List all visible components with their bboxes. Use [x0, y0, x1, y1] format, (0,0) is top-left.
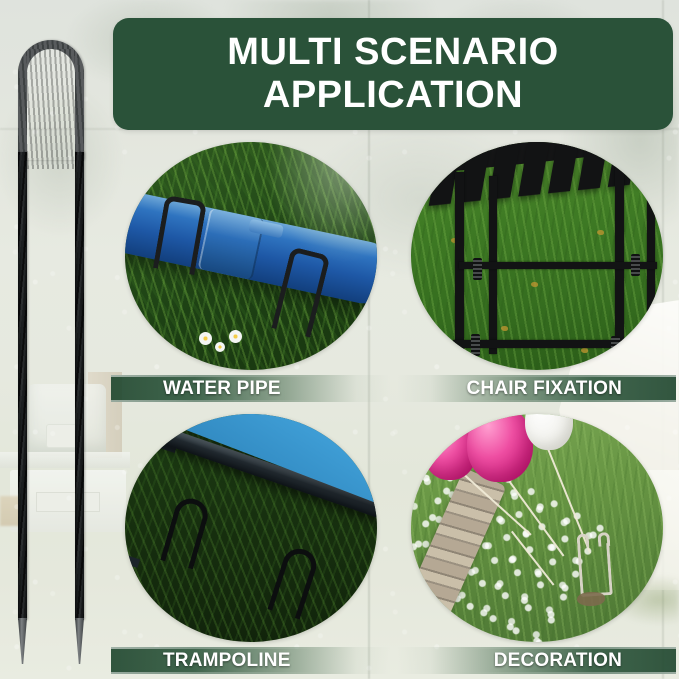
- caption-label: CHAIR FIXATION: [467, 378, 623, 400]
- decoration-scene: [411, 414, 663, 642]
- scenario-cell-decoration: DECORATION: [394, 408, 679, 679]
- bench-crossbar-upper: [459, 262, 657, 269]
- ground-stake-anchor: [577, 543, 613, 597]
- bench-scene: [411, 142, 663, 370]
- bench-leg-rear-right: [647, 162, 655, 352]
- header-title-line-1: MULTI SCENARIO: [227, 31, 558, 74]
- stake-tip-left: [18, 618, 27, 664]
- stake-leg-right: [75, 152, 84, 620]
- photo-chair-fixation: [411, 142, 663, 370]
- fallen-leaf: [501, 326, 508, 331]
- soil-patch: [577, 592, 605, 606]
- ground-stake-2: [631, 254, 640, 276]
- caption-water-pipe: WATER PIPE: [111, 375, 390, 402]
- fallen-leaf: [581, 348, 588, 353]
- header-title-line-2: APPLICATION: [263, 74, 523, 117]
- caption-decoration: DECORATION: [397, 647, 676, 674]
- product-lifestyle-poster: MULTI SCENARIO APPLICATION: [0, 0, 679, 679]
- bench-leg-front-right: [615, 158, 624, 354]
- ground-stake-4: [611, 336, 620, 358]
- ground-stake-3: [471, 334, 480, 356]
- fallen-leaf: [597, 230, 604, 235]
- daisy-flower-1: [199, 332, 212, 345]
- stake-arc: [18, 40, 84, 160]
- caption-label: WATER PIPE: [163, 378, 281, 400]
- stake-tip-right: [75, 618, 84, 664]
- scenario-cell-trampoline: TRAMPOLINE: [108, 408, 393, 679]
- balloon-pink-right: [467, 414, 533, 482]
- scenario-cell-chair-fixation: CHAIR FIXATION: [394, 136, 679, 407]
- caption-chair-fixation: CHAIR FIXATION: [397, 375, 676, 402]
- rebar-stake-product: [8, 40, 106, 665]
- background-haze: [263, 142, 377, 266]
- photo-water-pipe: [125, 142, 377, 370]
- fallen-leaf: [531, 282, 538, 287]
- trampoline-scene: [125, 414, 377, 642]
- daisy-flower-2: [229, 330, 242, 343]
- caption-label: DECORATION: [494, 650, 622, 672]
- scenario-grid: WATER PIPE: [108, 136, 679, 679]
- header-banner: MULTI SCENARIO APPLICATION: [113, 18, 673, 130]
- photo-trampoline: [125, 414, 377, 642]
- bench-crossbar-lower: [453, 340, 663, 348]
- daisy-flower-3: [215, 342, 225, 352]
- photo-decoration: [411, 414, 663, 642]
- caption-label: TRAMPOLINE: [163, 650, 291, 672]
- stake-leg-left: [18, 152, 27, 620]
- water-pipe-scene: [125, 142, 377, 370]
- ground-stake-1: [473, 258, 482, 280]
- caption-trampoline: TRAMPOLINE: [111, 647, 390, 674]
- scenario-cell-water-pipe: WATER PIPE: [108, 136, 393, 407]
